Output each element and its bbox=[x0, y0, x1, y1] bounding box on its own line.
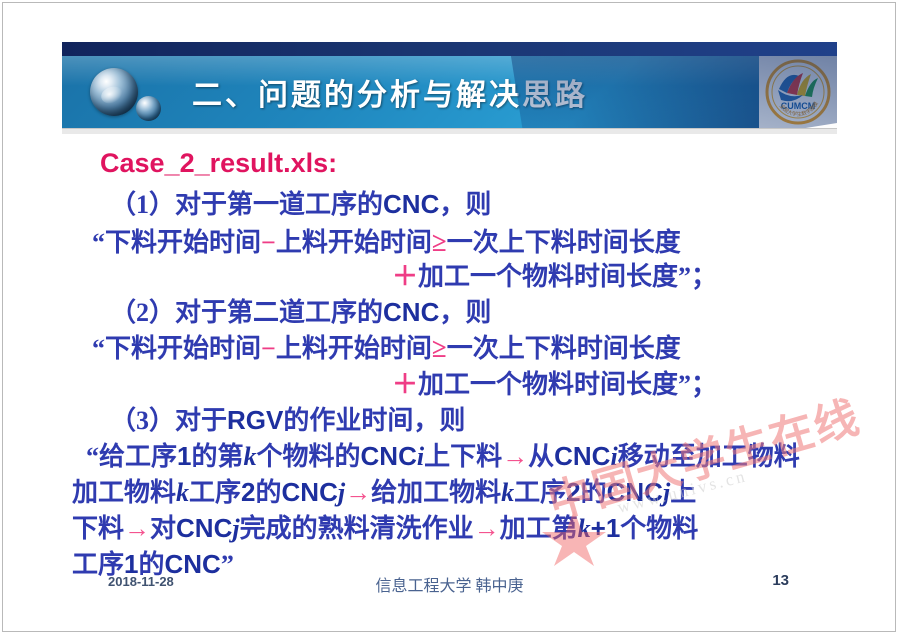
file-heading: Case_2_result.xls: bbox=[100, 148, 337, 179]
item-2-tail: ，则 bbox=[439, 298, 491, 327]
rule-3-seg3-n: 2 bbox=[566, 477, 580, 507]
rule-3-seg3-b: 工序 bbox=[514, 478, 566, 507]
sphere-large-icon bbox=[90, 68, 138, 116]
rule-3-seg3-cnc: CNC bbox=[607, 477, 663, 507]
rule-2-part-c: 一次上下料时间长度 bbox=[447, 334, 681, 363]
svg-text:CUMCM: CUMCM bbox=[781, 101, 816, 111]
rule-2-part-d: 加工一个物料时间长度 bbox=[418, 370, 678, 399]
rule-3-seg2-b-head: 移动至加工物料 bbox=[618, 442, 800, 471]
rule-3-seg2-j: j bbox=[338, 478, 345, 507]
file-heading-colon: : bbox=[328, 148, 337, 178]
cumcm-logo-icon: CUMCM 全国大学生数学建模竞赛 bbox=[765, 59, 831, 125]
rule-3-line-c: 下料→对CNCj完成的熟料清洗作业→加工第k+1个物料 bbox=[72, 508, 698, 545]
svg-text:全国大学生数学建模竞赛: 全国大学生数学建模竞赛 bbox=[765, 59, 820, 118]
cumcm-logo: CUMCM 全国大学生数学建模竞赛 bbox=[759, 56, 837, 128]
rule-3-seg3-a: 给加工物料 bbox=[371, 478, 501, 507]
rule-3-seg3-d-head: 上 bbox=[670, 478, 696, 507]
rule-3-seg5-b-head: 个物料 bbox=[620, 514, 698, 543]
item-2-line: （2）对于第二道工序的CNC，则 bbox=[110, 292, 491, 329]
rule-3-seg1-cnc: CNC bbox=[361, 441, 417, 471]
rule-2-open-quote: “ bbox=[92, 334, 105, 363]
slide-body: Case_2_result.xls: （1）对于第一道工序的CNC，则 “下料开… bbox=[62, 142, 852, 562]
rule-2-minus: − bbox=[261, 334, 276, 363]
rule-1-part-a: 下料开始时间 bbox=[105, 228, 261, 257]
logo-disc: CUMCM 全国大学生数学建模竞赛 bbox=[765, 59, 831, 125]
rule-3-line-a: “给工序1的第k个物料的CNCi上下料→从CNCi移动至加工物料 bbox=[86, 436, 800, 473]
item-3-line: （3）对于RGV的作业时间，则 bbox=[110, 400, 465, 437]
footer-page-number: 13 bbox=[772, 572, 789, 589]
rule-3-seg4-cnc: CNC bbox=[176, 513, 232, 543]
rule-2-line-a: “下料开始时间−上料开始时间≥一次上下料时间长度 bbox=[92, 328, 681, 365]
rule-1-line-a: “下料开始时间−上料开始时间≥一次上下料时间长度 bbox=[92, 222, 681, 259]
item-2-label: （2）对于第二道工序的 bbox=[110, 298, 383, 327]
sphere-small-icon bbox=[136, 96, 161, 121]
slide: 二、问题的分析与解决思路 CUMCM 全国大学生数学建模竞赛 bbox=[0, 0, 900, 636]
rule-3-seg1-k: k bbox=[244, 442, 257, 471]
rule-3-seg3-d-cont: 下料 bbox=[72, 514, 124, 543]
slide-footer: 2018-11-28 信息工程大学 韩中庚 13 bbox=[62, 570, 837, 600]
rule-3-arrow-2: → bbox=[345, 478, 371, 507]
rule-1-line-b: ＋加工一个物料时间长度”； bbox=[392, 256, 717, 293]
rule-3-open-quote: “ bbox=[86, 442, 99, 471]
rule-2-part-b: 上料开始时间 bbox=[276, 334, 432, 363]
rule-1-part-b: 上料开始时间 bbox=[276, 228, 432, 257]
header-top-bar bbox=[62, 42, 837, 56]
rule-3-seg2-b-cont: 加工物料 bbox=[72, 478, 176, 507]
rule-1-close: ”； bbox=[678, 262, 717, 291]
item-3-label: （3）对于 bbox=[110, 406, 227, 435]
item-1-label: （1）对于第一道工序的 bbox=[110, 190, 383, 219]
item-1-line: （1）对于第一道工序的CNC，则 bbox=[110, 184, 491, 221]
rule-3-seg1-d: 上下料 bbox=[424, 442, 502, 471]
item-1-tail: ，则 bbox=[439, 190, 491, 219]
rule-3-seg5-plus: +1 bbox=[591, 513, 621, 543]
rule-1-open-quote: “ bbox=[92, 228, 105, 257]
rule-3-line-b: 加工物料k工序2的CNCj→给加工物料k工序2的CNCj上 bbox=[72, 472, 696, 509]
rule-1-ge: ≥ bbox=[432, 227, 447, 257]
footer-affiliation: 信息工程大学 韩中庚 bbox=[62, 572, 837, 596]
item-3-tail: 的作业时间，则 bbox=[283, 406, 465, 435]
rule-2-close: ”； bbox=[678, 370, 717, 399]
slide-header: 二、问题的分析与解决思路 CUMCM 全国大学生数学建模竞赛 bbox=[62, 56, 837, 128]
rule-3-seg4-a: 对 bbox=[150, 514, 176, 543]
rule-2-line-b: ＋加工一个物料时间长度”； bbox=[392, 364, 717, 401]
rule-3-seg5-k: k bbox=[578, 514, 591, 543]
rule-3-seg2-cnc: CNC bbox=[554, 441, 610, 471]
rule-3-seg4-j: j bbox=[232, 514, 239, 543]
rule-3-seg3-c: 的 bbox=[581, 478, 607, 507]
rule-2-ge: ≥ bbox=[432, 333, 447, 363]
item-3-term: RGV bbox=[227, 405, 283, 435]
rule-3-arrow-4: → bbox=[474, 514, 500, 543]
item-2-term: CNC bbox=[383, 297, 439, 327]
rule-1-plus: ＋ bbox=[392, 262, 418, 291]
item-1-term: CNC bbox=[383, 189, 439, 219]
page-title: 二、问题的分析与解决思路 bbox=[192, 70, 588, 114]
rule-3-seg1-a: 给工序 bbox=[99, 442, 177, 471]
rule-2-plus: ＋ bbox=[392, 370, 418, 399]
rule-1-minus: − bbox=[261, 228, 276, 257]
header-underline bbox=[62, 128, 837, 134]
rule-3-arrow-3: → bbox=[124, 514, 150, 543]
rule-3-seg2-d: 的 bbox=[256, 478, 282, 507]
rule-1-part-d: 加工一个物料时间长度 bbox=[418, 262, 678, 291]
rule-3-seg5-a: 加工第 bbox=[500, 514, 578, 543]
rule-3-seg2-n: 2 bbox=[241, 477, 255, 507]
rule-3-seg3-k: k bbox=[501, 478, 514, 507]
rule-3-seg2-i: i bbox=[610, 442, 617, 471]
rule-2-part-a: 下料开始时间 bbox=[105, 334, 261, 363]
file-heading-text: Case_2_result.xls bbox=[100, 148, 328, 178]
rule-3-arrow-1: → bbox=[502, 442, 528, 471]
rule-3-seg2-a: 从 bbox=[528, 442, 554, 471]
rule-3-seg2-cnc2: CNC bbox=[282, 477, 338, 507]
rule-3-seg1-c: 个物料的 bbox=[257, 442, 361, 471]
rule-3-seg2-k: k bbox=[176, 478, 189, 507]
rule-3-seg2-c: 工序 bbox=[189, 478, 241, 507]
rule-1-part-c: 一次上下料时间长度 bbox=[447, 228, 681, 257]
rule-3-seg1-b: 的第 bbox=[191, 442, 243, 471]
rule-3-seg4-b: 完成的熟料清洗作业 bbox=[240, 514, 474, 543]
rule-3-seg1-i: i bbox=[417, 442, 424, 471]
rule-3-seg1-n: 1 bbox=[177, 441, 191, 471]
